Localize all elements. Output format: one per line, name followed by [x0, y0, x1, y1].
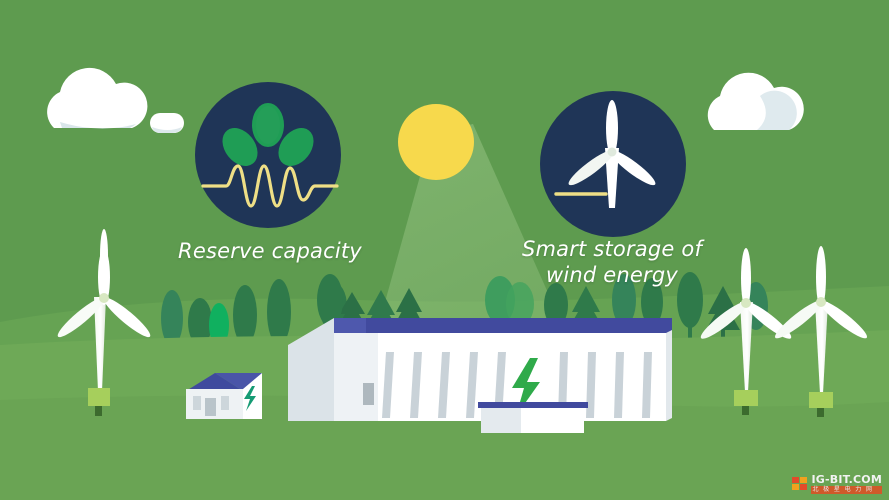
sun-icon — [398, 104, 474, 180]
storage-warehouse — [288, 318, 672, 433]
illustration-scene: Reserve capacity Smart storage of wind e… — [0, 0, 889, 500]
ig-bit-logo-icon — [792, 476, 808, 492]
landscape-layer — [0, 0, 889, 500]
watermark-title: IG-BIT.COM — [811, 474, 882, 485]
watermark: IG-BIT.COM 北 极 星 电 力 网 — [790, 473, 884, 495]
cloud-small-icon — [150, 113, 184, 133]
watermark-subtitle: 北 极 星 电 力 网 — [811, 486, 882, 494]
